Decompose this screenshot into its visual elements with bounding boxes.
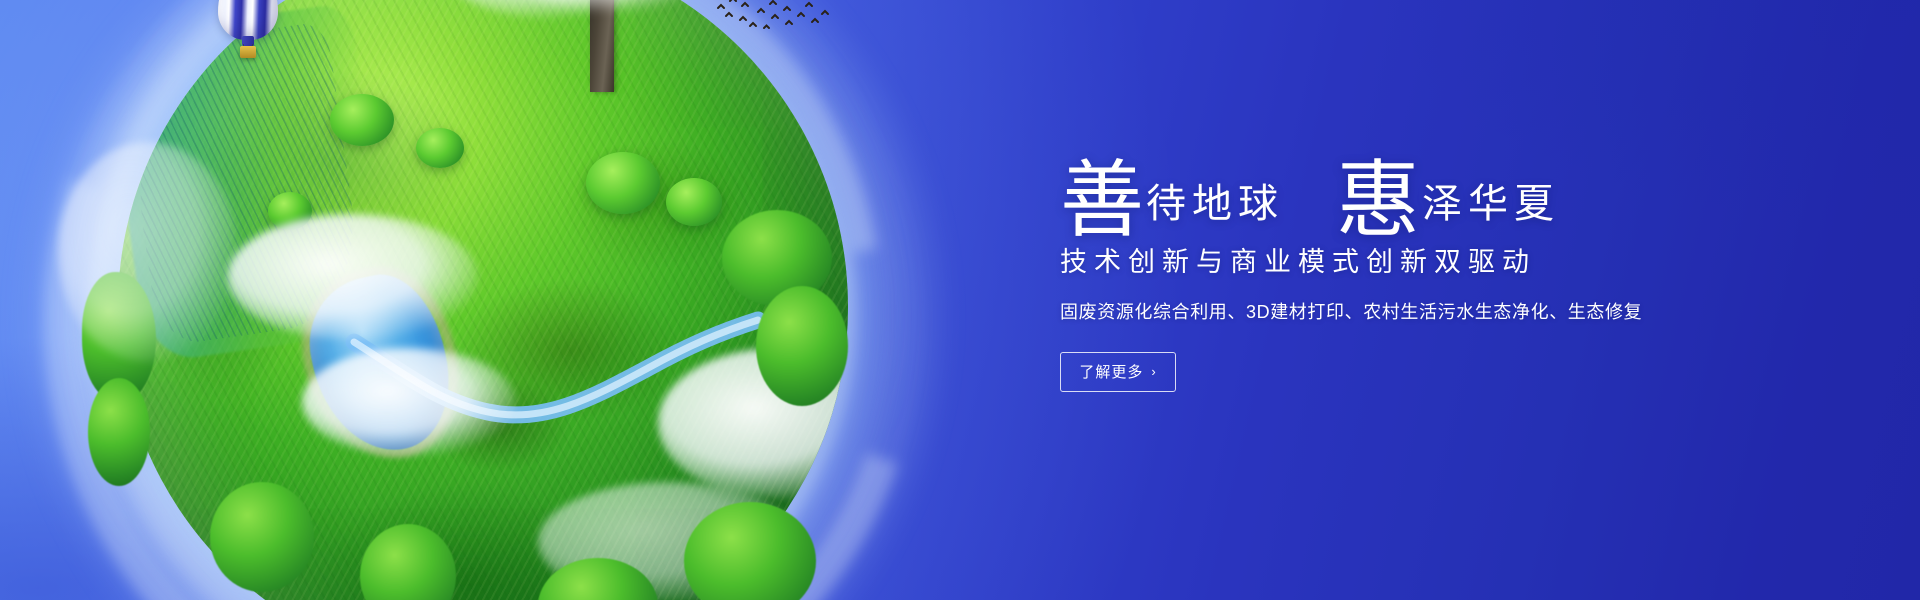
limb-tree [756,286,848,406]
balloon-basket [240,46,256,58]
limb-tree [210,482,314,592]
limb-tree [88,378,150,486]
headline-big-2: 惠 [1336,162,1420,242]
cloud-puff [228,214,478,340]
hot-air-balloon [218,0,286,78]
globe-illustration [118,0,848,600]
learn-more-label: 了解更多 [1079,361,1143,382]
shrub-cluster [416,128,464,168]
learn-more-button[interactable]: 了解更多 › [1060,352,1176,392]
cloud-puff [302,348,516,456]
tree-mist [514,0,704,12]
headline-small-1: 待地球 [1146,184,1284,224]
hero-banner: 善 待地球 惠 泽华夏 技术创新与商业模式创新双驱动 固废资源化综合利用、3D建… [0,0,1920,600]
headline-small-2: 泽华夏 [1422,184,1560,224]
shrub-cluster [586,152,660,214]
page-title: 善 待地球 惠 泽华夏 [1060,128,1760,236]
tree-trunk [590,0,614,92]
banner-description: 固废资源化综合利用、3D建材打印、农村生活污水生态净化、生态修复 [1060,300,1760,325]
banner-subtitle: 技术创新与商业模式创新双驱动 [1060,246,1760,278]
bird-flock [714,0,834,34]
shrub-cluster [330,94,394,146]
shrub-cluster [666,178,722,226]
headline-big-1: 善 [1060,162,1144,242]
tree-on-globe [490,0,720,100]
balloon-envelope [218,0,278,40]
chevron-right-icon: › [1151,365,1156,378]
cloud-puff [58,142,238,362]
banner-content: 善 待地球 惠 泽华夏 技术创新与商业模式创新双驱动 固废资源化综合利用、3D建… [1060,128,1760,392]
